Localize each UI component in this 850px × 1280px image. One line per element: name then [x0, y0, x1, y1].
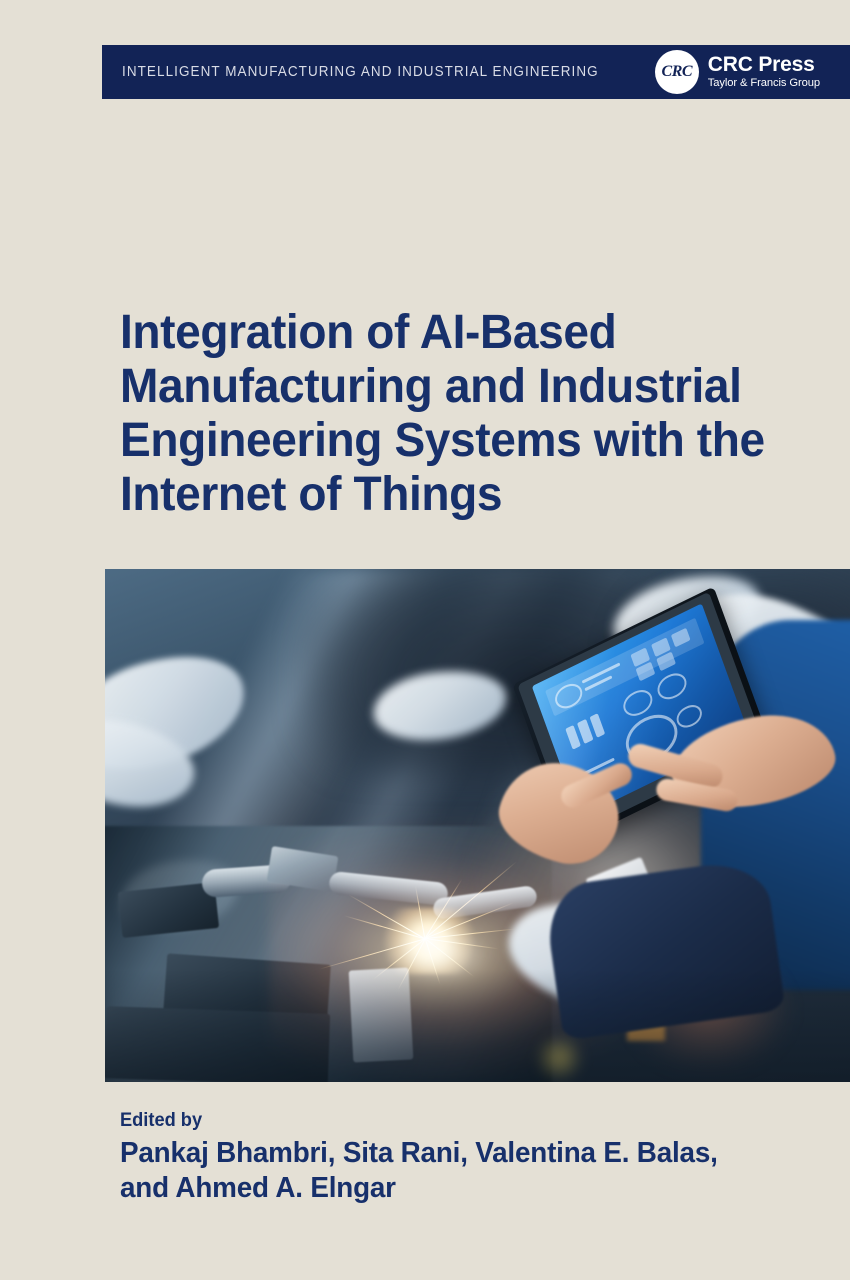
crc-roundel-label: CRC — [662, 63, 693, 81]
book-title: Integration of AI-Based Manufacturing an… — [120, 306, 792, 522]
book-cover: INTELLIGENT MANUFACTURING AND INDUSTRIAL… — [0, 0, 850, 1280]
title-line-4: Internet of Things — [120, 468, 502, 521]
crc-roundel-icon: CRC — [655, 50, 699, 94]
title-line-2: Manufacturing and Industrial — [120, 360, 742, 413]
series-name: INTELLIGENT MANUFACTURING AND INDUSTRIAL… — [122, 64, 599, 80]
author-names-line-2: and Ahmed A. Elngar — [120, 1172, 396, 1204]
publisher-name: CRC Press — [708, 54, 820, 75]
author-block: Edited by Pankaj Bhambri, Sita Rani, Val… — [120, 1110, 820, 1206]
crc-press-logo: CRC CRC Press Taylor & Francis Group — [655, 50, 820, 94]
title-line-3: Engineering Systems with the — [120, 414, 765, 467]
cover-photograph: 2 — [105, 569, 850, 1082]
author-names-line-1: Pankaj Bhambri, Sita Rani, Valentina E. … — [120, 1137, 718, 1169]
photo-bottom-vignette — [105, 969, 850, 1082]
crc-wordmark: CRC Press Taylor & Francis Group — [708, 54, 820, 89]
title-block: Integration of AI-Based Manufacturing an… — [120, 306, 820, 522]
series-banner: INTELLIGENT MANUFACTURING AND INDUSTRIAL… — [102, 45, 850, 99]
edited-by-label: Edited by — [120, 1110, 792, 1132]
author-names: Pankaj Bhambri, Sita Rani, Valentina E. … — [120, 1136, 792, 1206]
imprint-name: Taylor & Francis Group — [708, 78, 820, 89]
title-line-1: Integration of AI-Based — [120, 306, 616, 359]
